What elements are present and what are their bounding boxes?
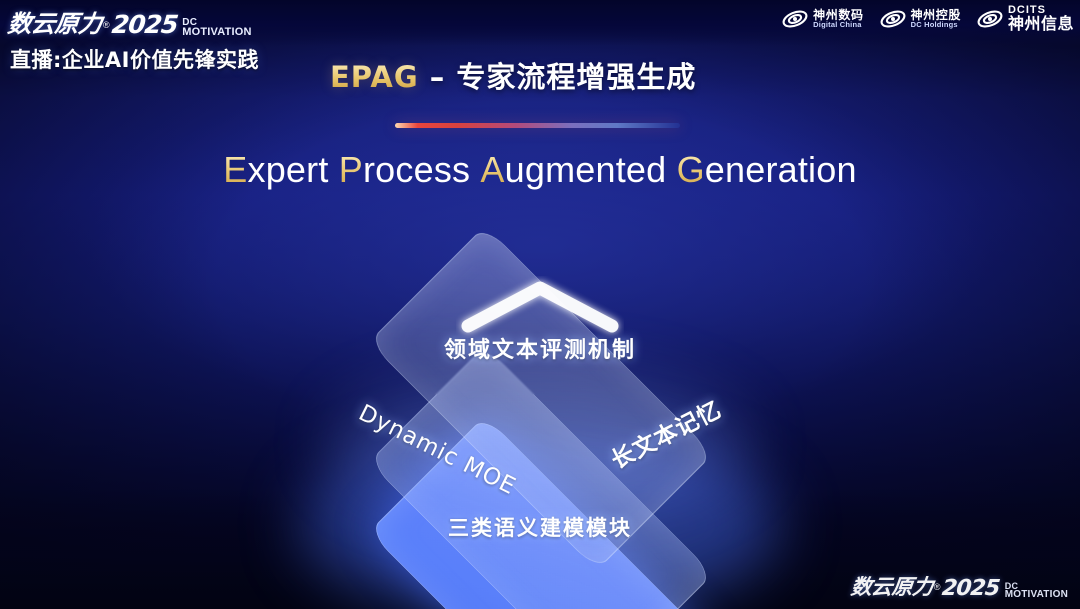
partner-name-en: DC Holdings	[911, 21, 961, 29]
subtitle-rest-augmented: ugmented	[505, 149, 667, 190]
watermark-logo-year: 2025	[941, 576, 1001, 601]
event-logo-year: 2025	[110, 10, 179, 39]
event-logo: 数云原力 ® 2025 DC MOTIVATION	[8, 4, 259, 39]
subtitle-cap-a: A	[480, 149, 504, 190]
subtitle-cap-p: P	[339, 149, 363, 190]
subtitle-cap-e: E	[223, 149, 247, 190]
watermark-logo-motivation: MOTIVATION	[1005, 590, 1068, 599]
partner-logos: 神州数码 Digital China 神州控股 DC Holdings	[782, 5, 1074, 33]
partner-name-cn: 神州信息	[1008, 16, 1074, 32]
watermark-logo-dcm: DC MOTIVATION	[1005, 582, 1068, 599]
layer-bottom-label: 三类语义建模模块	[448, 512, 632, 542]
chevron-up-icon	[456, 276, 624, 343]
page-title: EPAG – 专家流程增强生成	[330, 54, 696, 96]
page-title-chinese: 专家流程增强生成	[456, 60, 696, 94]
subtitle-rest-expert: xpert	[248, 149, 329, 190]
event-logo-cn: 数云原力	[6, 4, 104, 39]
swirl-logo-icon	[782, 7, 808, 31]
subtitle-rest-generation: eneration	[705, 149, 857, 190]
page-subtitle: Expert Process Augmented Generation	[0, 149, 1080, 191]
partner-logo-text: 神州数码 Digital China	[813, 9, 863, 29]
watermark-logo-cn: 数云原力	[849, 571, 934, 601]
swirl-logo-icon	[977, 7, 1003, 31]
partner-logo-dc-holdings[interactable]: 神州控股 DC Holdings	[880, 7, 961, 31]
partner-logo-text: DCITS 神州信息	[1008, 5, 1074, 33]
swirl-logo-icon	[880, 7, 906, 31]
page-title-acronym: EPAG	[330, 60, 419, 94]
subtitle-rest-process: rocess	[363, 149, 470, 190]
event-logo-motivation: MOTIVATION	[182, 27, 251, 37]
partner-name-en: Digital China	[813, 21, 863, 29]
watermark-logo: 数云原力 ® 2025 DC MOTIVATION	[851, 571, 1068, 601]
event-logo-dcm: DC MOTIVATION	[182, 18, 251, 37]
live-session-label: 直播:企业AI价值先锋实践	[10, 44, 259, 74]
subtitle-cap-g: G	[677, 149, 705, 190]
partner-logo-dcits[interactable]: DCITS 神州信息	[977, 5, 1074, 33]
registered-mark-icon: ®	[934, 582, 941, 592]
header-left: 数云原力 ® 2025 DC MOTIVATION 直播:企业AI价值先锋实践	[8, 4, 259, 74]
registered-mark-icon: ®	[103, 20, 110, 30]
partner-logo-text: 神州控股 DC Holdings	[911, 9, 961, 29]
footer-watermark: 数云原力 ® 2025 DC MOTIVATION	[851, 571, 1068, 601]
presentation-slide: 三类语义建模模块 Dynamic MOE 长文本记忆 领域文本评测机制 数云原力…	[0, 0, 1080, 609]
page-title-separator: –	[419, 60, 457, 94]
title-divider	[395, 123, 680, 128]
partner-logo-digital-china[interactable]: 神州数码 Digital China	[782, 7, 863, 31]
